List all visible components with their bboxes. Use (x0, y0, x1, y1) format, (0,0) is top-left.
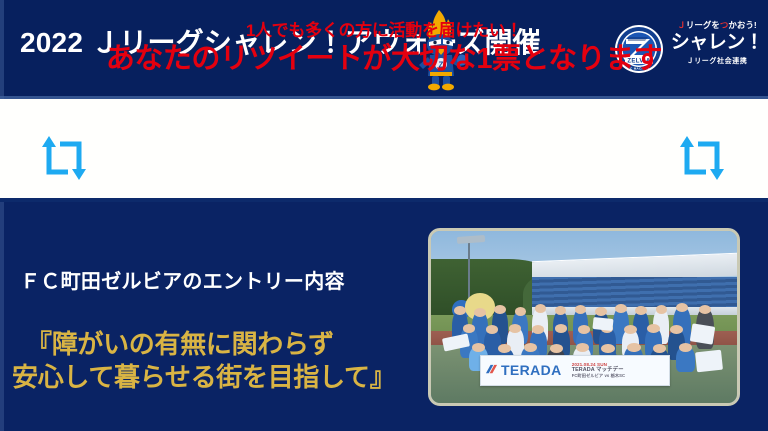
terada-banner-meta: 2021.08.24 SUN TERADA マッチデー FC町田ゼルビア vs … (572, 362, 665, 379)
terada-banner-name: TERADA (501, 363, 562, 377)
callout-band (0, 99, 768, 202)
retweet-icon[interactable] (38, 134, 90, 182)
photo-terada-banner: TERADA 2021.08.24 SUN TERADA マッチデー FC町田ゼ… (480, 355, 670, 386)
terada-banner-match: FC町田ゼルビア vs 栃木SC (572, 374, 665, 379)
callout-subline: 1人でも多くの方に活動を届けたい！ (0, 22, 768, 39)
poster-root: 2022 Ｊリーグシャレン！アウォーズ開催 Z (0, 0, 768, 431)
entry-left-edge (0, 202, 4, 431)
entry-quote: 『障がいの有無に関わらず 安心して暮らせる街を目指して』 (0, 328, 420, 395)
retweet-icon[interactable] (676, 134, 728, 182)
terada-logo-icon (485, 364, 498, 377)
entry-quote-line1: 『障がいの有無に関わらず (0, 328, 420, 361)
group-photo: TERADA 2021.08.24 SUN TERADA マッチデー FC町田ゼ… (428, 228, 740, 406)
entry-quote-line2: 安心して暮らせる街を目指して』 (0, 361, 420, 394)
callout-headline: あなたのリツイートが大切な1票となります (0, 45, 768, 74)
entry-label: ＦＣ町田ゼルビアのエントリー内容 (20, 272, 345, 292)
